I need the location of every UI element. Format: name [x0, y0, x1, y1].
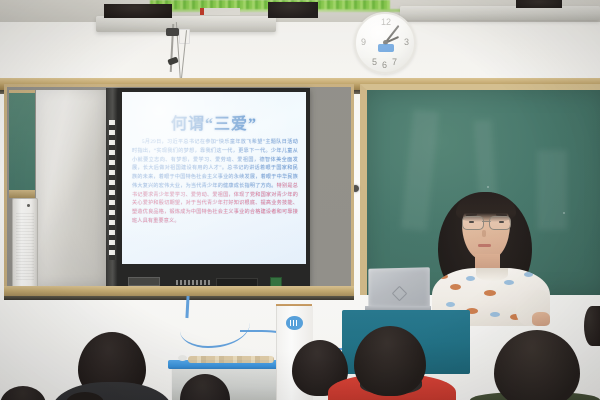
slide-title: 何谓“三爱”	[122, 110, 306, 134]
glasses-lens-left	[462, 216, 484, 230]
print-blob	[438, 274, 448, 279]
teacher	[420, 186, 550, 326]
classroom-photo: 12 9 3 5 6 7 何谓“三爱” 5月29日，习近平总书记在参加	[0, 0, 600, 400]
clock-numeral-5: 5	[372, 57, 377, 67]
whiteboard-pen-tray[interactable]	[128, 277, 160, 286]
board-ledge-shadow	[4, 296, 354, 300]
teacher-hand	[532, 312, 550, 326]
wall-clock: 12 9 3 5 6 7	[354, 12, 416, 74]
mullion-marker-tape	[109, 120, 115, 260]
print-blob	[504, 280, 514, 285]
teacher-mouth	[478, 244, 491, 247]
podium-mouse[interactable]	[178, 355, 187, 361]
podium-keyboard[interactable]	[188, 356, 274, 363]
chalkboard-strip-ledge	[9, 190, 35, 198]
frosted-panel-glare	[36, 90, 106, 286]
power-plug-upper[interactable]	[166, 28, 179, 36]
glasses-lens-right	[489, 216, 511, 230]
light-stem-left	[104, 4, 172, 18]
chalkboard-strip-left	[9, 90, 35, 193]
slide-body-blue: 5月29日，习近平总书记在参加“快乐童年放飞希望”主题队日活动时指出，“实现我们…	[132, 139, 298, 189]
print-blob	[524, 272, 533, 277]
ceiling-light-fixture-right	[400, 6, 600, 20]
whiteboard-brand-logo	[176, 280, 210, 285]
interactive-whiteboard[interactable]: 何谓“三爱” 5月29日，习近平总书记在参加“快乐童年放飞希望”主题队日活动时指…	[118, 88, 310, 288]
clock-glare	[354, 12, 416, 58]
whiteboard-screen[interactable]: 何谓“三爱” 5月29日，习近平总书记在参加“快乐童年放飞希望”主题队日活动时指…	[122, 92, 306, 264]
light-stem-right	[516, 0, 562, 8]
student-head-edge	[584, 306, 600, 346]
print-blob	[490, 312, 500, 317]
clock-numeral-7: 7	[392, 57, 397, 67]
wall-air-purifier	[12, 198, 38, 288]
appliance-led	[27, 204, 30, 207]
chalk-dot	[563, 212, 565, 214]
teacher-glasses	[462, 216, 511, 228]
cabinet-badge-sticker	[286, 316, 303, 330]
light-stem-mid	[268, 2, 318, 18]
teacher-nose	[482, 230, 486, 237]
student-head	[78, 332, 146, 400]
appliance-grille	[16, 213, 34, 281]
print-blob	[466, 276, 475, 281]
laptop-logo-icon	[392, 286, 407, 302]
print-blob	[484, 290, 496, 296]
slide-body: 5月29日，习近平总书记在参加“快乐童年放飞希望”主题队日活动时指出，“实现我们…	[132, 138, 298, 226]
student-head	[354, 326, 426, 396]
print-blob	[450, 284, 461, 290]
print-blob	[446, 302, 455, 307]
blouse-collar	[476, 268, 508, 281]
light-fixture-label	[200, 8, 240, 15]
laptop-lid	[368, 267, 429, 308]
clock-numeral-6: 6	[382, 60, 387, 70]
